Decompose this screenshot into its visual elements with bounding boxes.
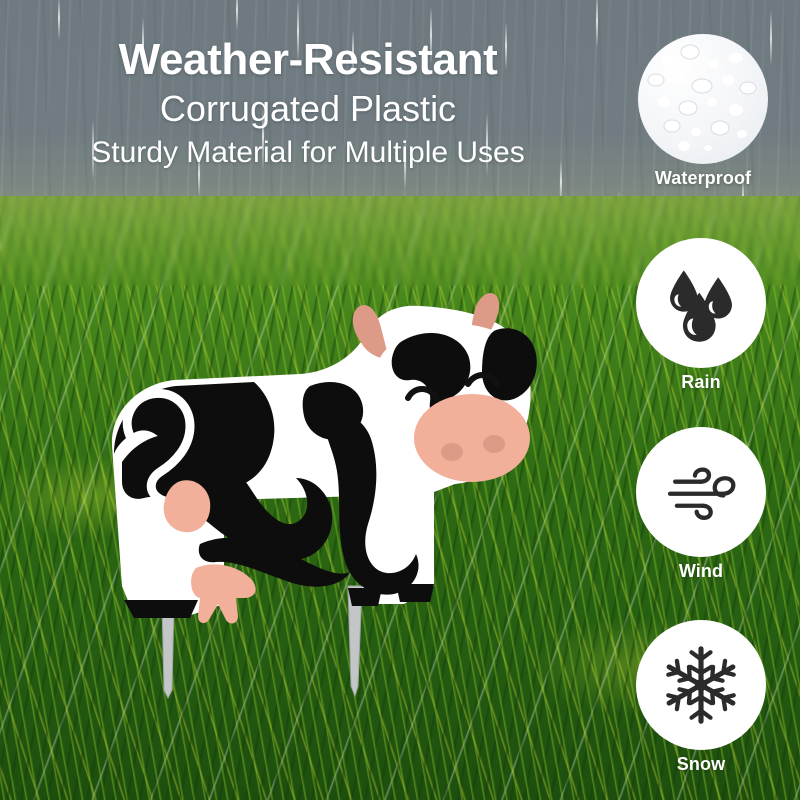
badge-snow[interactable]: Snow [636, 620, 766, 775]
headline-tertiary: Sturdy Material for Multiple Uses [0, 132, 616, 174]
badge-waterproof[interactable]: Waterproof [638, 34, 768, 189]
snowflake-icon [658, 642, 744, 728]
water-droplets-texture-icon [638, 34, 768, 164]
cow-nostril-left [441, 443, 463, 461]
snow-circle [636, 620, 766, 750]
raindrop [236, 0, 238, 30]
badge-wind[interactable]: Wind [636, 427, 766, 582]
cow-yard-sign [104, 286, 554, 706]
wind-lines-icon [658, 449, 744, 535]
cow-udder [191, 564, 256, 623]
cow-nostril-right [483, 435, 505, 453]
raindrop [770, 10, 772, 66]
headline-secondary: Corrugated Plastic [0, 86, 616, 132]
badge-label-wind: Wind [636, 561, 766, 582]
cow-snout [414, 394, 530, 482]
headline-primary: Weather-Resistant [0, 34, 616, 86]
wind-circle [636, 427, 766, 557]
cow-hoof-front-left [348, 588, 382, 606]
badge-label-snow: Snow [636, 754, 766, 775]
rain-circle [636, 238, 766, 368]
badge-label-waterproof: Waterproof [638, 168, 768, 189]
product-feature-image: Weather-Resistant Corrugated Plastic Stu… [0, 0, 800, 800]
waterproof-circle [638, 34, 768, 164]
badge-rain[interactable]: Rain [636, 238, 766, 393]
snowflake-center [695, 679, 707, 691]
cow-hoof-front-right [396, 584, 434, 602]
rain-drops-icon [658, 260, 744, 346]
cow-hoof-rear [124, 600, 198, 618]
headline-block: Weather-Resistant Corrugated Plastic Stu… [0, 34, 616, 174]
yard-stake-left [162, 604, 174, 698]
badge-label-rain: Rain [636, 372, 766, 393]
